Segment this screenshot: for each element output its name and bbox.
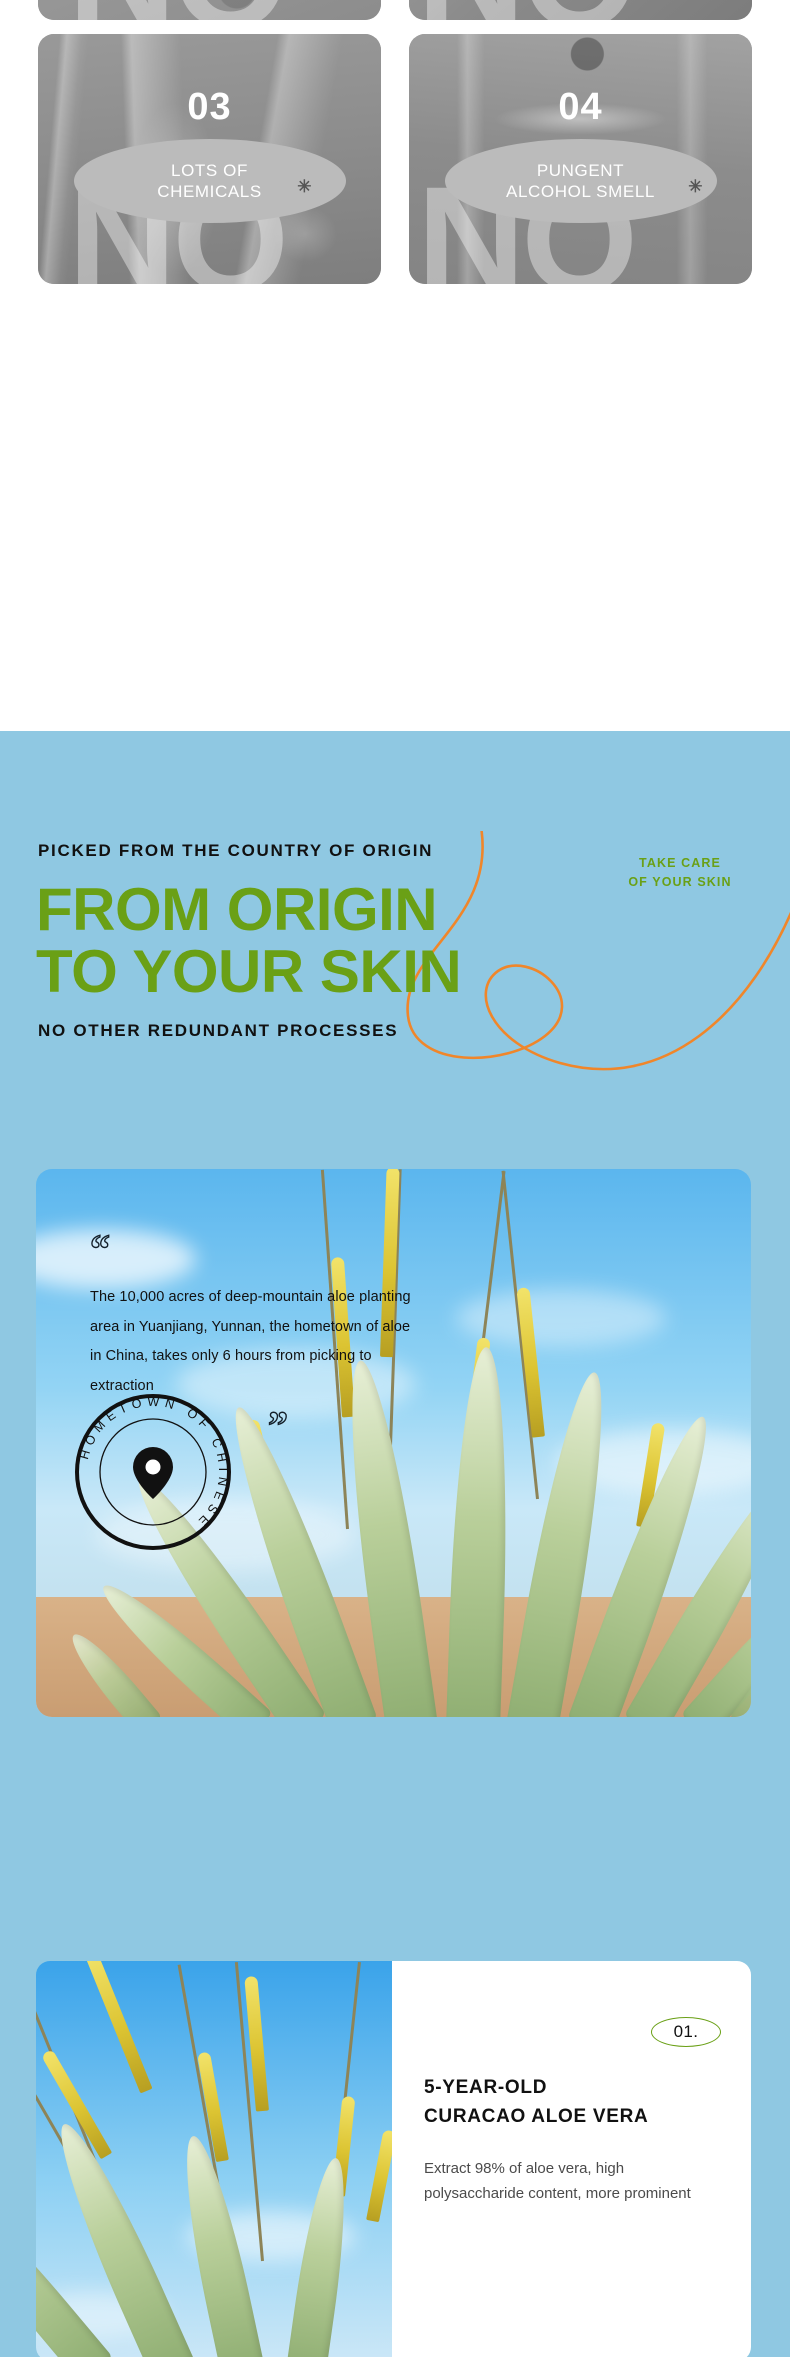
quote-close-icon: ” bbox=[268, 1406, 420, 1446]
aloe-flowers-image bbox=[36, 1961, 392, 2357]
origin-section: PICKED FROM THE COUNTRY OF ORIGIN FROM O… bbox=[0, 731, 790, 2357]
take-care-line1: TAKE CARE bbox=[600, 854, 760, 873]
origin-subkicker: NO OTHER REDUNDANT PROCESSES bbox=[38, 1021, 398, 1041]
feature-card-body: 01. 5-YEAR-OLD CURACAO ALOE VERA Extract… bbox=[392, 1961, 751, 2357]
no-card-number: 04 bbox=[409, 86, 752, 129]
no-watermark-text: NO bbox=[417, 0, 634, 20]
no-cards-row-1: 01 NO LOW IN ALOE ✳ 02 NO HEAVY TEXTURE … bbox=[38, 0, 752, 20]
no-card-label-line1: LOTS OF bbox=[171, 161, 248, 180]
no-card-01[interactable]: 01 NO LOW IN ALOE ✳ bbox=[38, 0, 381, 20]
take-care-line2: OF YOUR SKIN bbox=[600, 873, 760, 892]
no-card-02[interactable]: 02 NO HEAVY TEXTURE ✳ bbox=[409, 0, 752, 20]
asterisk-icon: ✳ bbox=[688, 177, 702, 197]
no-card-04[interactable]: 04 NO PUNGENT ALCOHOL SMELL ✳ bbox=[409, 34, 752, 284]
no-card-label-line1: PUNGENT bbox=[537, 161, 624, 180]
no-card-pill[interactable]: PUNGENT ALCOHOL SMELL ✳ bbox=[445, 139, 717, 223]
feature-description: Extract 98% of aloe vera, high polysacch… bbox=[424, 2157, 714, 2207]
feature-title: 5-YEAR-OLD CURACAO ALOE VERA bbox=[424, 2073, 724, 2132]
no-card-label-wrap: PUNGENT ALCOHOL SMELL bbox=[492, 160, 669, 203]
origin-title-line2: TO YOUR SKIN bbox=[36, 941, 461, 1003]
feature-title-line1: 5-YEAR-OLD bbox=[424, 2073, 724, 2102]
origin-title: FROM ORIGIN TO YOUR SKIN bbox=[36, 879, 461, 1004]
take-care-note: TAKE CARE OF YOUR SKIN bbox=[600, 854, 760, 893]
asterisk-icon: ✳ bbox=[297, 177, 311, 197]
no-card-label-wrap: LOTS OF CHEMICALS bbox=[143, 160, 276, 203]
feature-card[interactable]: 01. 5-YEAR-OLD CURACAO ALOE VERA Extract… bbox=[36, 1961, 751, 2357]
no-card-label-line2: ALCOHOL SMELL bbox=[506, 182, 655, 201]
location-pin-icon bbox=[133, 1447, 173, 1499]
no-cards-grid: 01 NO LOW IN ALOE ✳ 02 NO HEAVY TEXTURE … bbox=[38, 0, 752, 298]
no-card-label-line2: CHEMICALS bbox=[157, 182, 262, 201]
no-watermark-text: NO bbox=[68, 0, 285, 20]
origin-kicker: PICKED FROM THE COUNTRY OF ORIGIN bbox=[38, 841, 433, 861]
aloe-hometown-stamp: ALOE HOMETOWN OF CHINESE bbox=[62, 1381, 244, 1563]
no-card-03[interactable]: 03 NO LOTS OF CHEMICALS ✳ bbox=[38, 34, 381, 284]
feature-title-line2: CURACAO ALOE VERA bbox=[424, 2102, 724, 2131]
no-card-number: 03 bbox=[38, 86, 381, 129]
quote-open-icon: “ bbox=[90, 1229, 420, 1269]
no-cards-section: 01 NO LOW IN ALOE ✳ 02 NO HEAVY TEXTURE … bbox=[0, 0, 790, 731]
page-root: 01 NO LOW IN ALOE ✳ 02 NO HEAVY TEXTURE … bbox=[0, 0, 790, 2357]
origin-title-line1: FROM ORIGIN bbox=[36, 879, 461, 941]
feature-badge: 01. bbox=[651, 2017, 721, 2047]
no-card-pill[interactable]: LOTS OF CHEMICALS ✳ bbox=[74, 139, 346, 223]
no-cards-row-2: 03 NO LOTS OF CHEMICALS ✳ 04 NO bbox=[38, 34, 752, 284]
